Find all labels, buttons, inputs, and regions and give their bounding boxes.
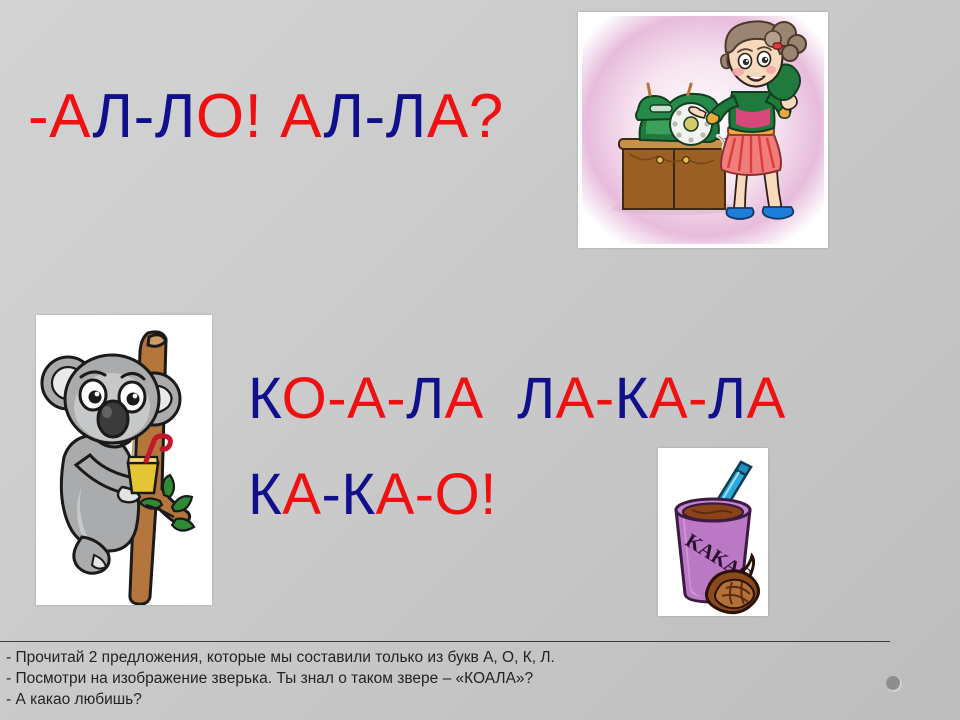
headline-char: ? [469,82,504,151]
headline-char: О [282,366,328,431]
footer-instructions: - Прочитай 2 предложения, которые мы сос… [6,647,886,710]
headline-char: - [415,462,435,527]
headline-char: Л [406,366,445,431]
headline-char: - [595,366,615,431]
headline-char: К [248,366,282,431]
headline-char: Л [708,366,747,431]
headline-char: ! [245,82,263,151]
headline-char: Л [155,82,196,151]
headline-char [262,82,280,151]
cocoa-illustration: KAKAO [658,448,768,616]
headline-char: А [427,82,469,151]
headline-char: А [347,366,386,431]
headline-char: К [248,462,282,527]
headline-char: ! [480,462,497,527]
headline-char: - [134,82,155,151]
headline-char: А [376,462,415,527]
headline-allo: -АЛ-ЛО! АЛ-ЛА? [28,86,504,148]
headline-char: А [282,462,321,527]
footer-bullet-dot [886,676,900,690]
girl-on-telephone-illustration [578,12,828,248]
footer-divider [0,641,890,642]
headline-char: А [49,82,92,151]
headline-koala: КО-А-ЛА ЛА-КА-ЛА [248,370,786,428]
headline-char [500,366,517,431]
headline-char: - [28,82,49,151]
picture-koala-on-branch [36,315,212,605]
headline-char: - [327,366,347,431]
headline-kakao: КА-КА-О! [248,466,497,524]
footer-line-2: - Посмотри на изображение зверька. Ты зн… [6,668,886,689]
headline-char: - [365,82,386,151]
headline-char [484,366,501,431]
footer-line-3: - А какао любишь? [6,689,886,710]
headline-char: - [321,462,341,527]
headline-char: Л [386,82,427,151]
headline-char: Л [517,366,556,431]
headline-char: - [386,366,406,431]
headline-char: А [649,366,688,431]
slide-canvas: -АЛ-ЛО! АЛ-ЛА? [0,0,960,720]
picture-cup-of-cocoa: KAKAO [658,448,768,616]
headline-char: - [688,366,708,431]
footer-line-1: - Прочитай 2 предложения, которые мы сос… [6,647,886,668]
headline-char: К [615,366,649,431]
koala-illustration [36,315,212,605]
picture-girl-on-telephone [578,12,828,248]
headline-char: А [280,82,323,151]
headline-char: А [445,366,484,431]
headline-char: Л [92,82,133,151]
headline-char: О [435,462,481,527]
headline-char: О [196,82,245,151]
headline-char: К [341,462,375,527]
headline-char: А [556,366,595,431]
headline-char: Л [323,82,364,151]
headline-char: А [747,366,786,431]
